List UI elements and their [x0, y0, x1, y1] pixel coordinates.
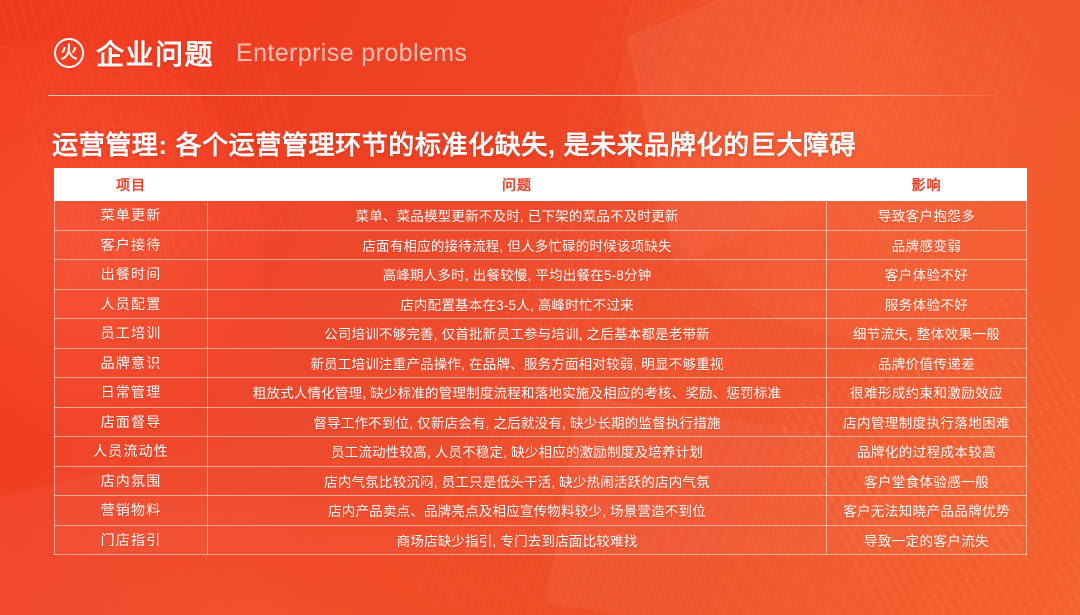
table-row: 营销物料店内产品卖点、品牌亮点及相应宣传物料较少, 场景营造不到位客户无法知晓产…: [55, 496, 1027, 526]
table-cell-item: 品牌意识: [55, 348, 208, 378]
table-cell-item: 人员配置: [55, 289, 208, 319]
table-cell-item: 店内氛围: [55, 466, 208, 496]
table-row: 菜单更新菜单、菜品模型更新不及时, 已下架的菜品不及时更新导致客户抱怨多: [55, 201, 1027, 231]
table-cell-problem: 店面有相应的接待流程, 但人多忙碌的时候该项缺失: [208, 230, 827, 260]
table-cell-problem: 督导工作不到位, 仅新店会有, 之后就没有, 缺少长期的监督执行措施: [208, 407, 827, 437]
table-cell-item: 员工培训: [55, 319, 208, 349]
problems-table: 项目 问题 影响 菜单更新菜单、菜品模型更新不及时, 已下架的菜品不及时更新导致…: [54, 168, 1027, 555]
table-cell-problem: 店内气氛比较沉闷, 员工只是低头干活, 缺少热闹活跃的店内气氛: [208, 466, 827, 496]
page-title: 运营管理: 各个运营管理环节的标准化缺失, 是未来品牌化的巨大障碍: [52, 125, 856, 162]
table-cell-problem: 商场店缺少指引, 专门去到店面比较难找: [208, 525, 827, 555]
table-cell-item: 店面督导: [55, 407, 208, 437]
column-header-impact: 影响: [827, 169, 1027, 201]
fire-circle-icon: 火: [54, 38, 84, 68]
table-row: 门店指引商场店缺少指引, 专门去到店面比较难找导致一定的客户流失: [55, 525, 1027, 555]
table-cell-item: 日常管理: [55, 378, 208, 408]
table-cell-impact: 服务体验不好: [827, 289, 1027, 319]
column-header-problem: 问题: [208, 169, 827, 201]
table-row: 店面督导督导工作不到位, 仅新店会有, 之后就没有, 缺少长期的监督执行措施店内…: [55, 407, 1027, 437]
table-cell-impact: 细节流失, 整体效果一般: [827, 319, 1027, 349]
table-row: 客户接待店面有相应的接待流程, 但人多忙碌的时候该项缺失品牌感变弱: [55, 230, 1027, 260]
table-row: 品牌意识新员工培训注重产品操作, 在品牌、服务方面相对较弱, 明显不够重视品牌价…: [55, 348, 1027, 378]
column-header-item: 项目: [55, 169, 208, 201]
table-cell-problem: 公司培训不够完善, 仅首批新员工参与培训, 之后基本都是老带新: [208, 319, 827, 349]
table-cell-problem: 新员工培训注重产品操作, 在品牌、服务方面相对较弱, 明显不够重视: [208, 348, 827, 378]
table-row: 员工培训公司培训不够完善, 仅首批新员工参与培训, 之后基本都是老带新细节流失,…: [55, 319, 1027, 349]
table-row: 日常管理粗放式人情化管理, 缺少标准的管理制度流程和落地实施及相应的考核、奖励、…: [55, 378, 1027, 408]
table-cell-problem: 店内配置基本在3-5人, 高峰时忙不过来: [208, 289, 827, 319]
table-cell-problem: 粗放式人情化管理, 缺少标准的管理制度流程和落地实施及相应的考核、奖励、惩罚标准: [208, 378, 827, 408]
brand-title-en: Enterprise problems: [236, 39, 467, 68]
table-row: 人员流动性员工流动性较高, 人员不稳定, 缺少相应的激励制度及培养计划品牌化的过…: [55, 437, 1027, 467]
table-cell-impact: 客户无法知晓产品品牌优势: [827, 496, 1027, 526]
table-cell-problem: 高峰期人多时, 出餐较慢, 平均出餐在5-8分钟: [208, 260, 827, 290]
table-cell-impact: 导致客户抱怨多: [827, 201, 1027, 231]
table-cell-item: 营销物料: [55, 496, 208, 526]
page-header: 火 企业问题 Enterprise problems: [0, 0, 1080, 100]
table-cell-item: 菜单更新: [55, 201, 208, 231]
table-header-row: 项目 问题 影响: [55, 169, 1027, 201]
table-cell-problem: 店内产品卖点、品牌亮点及相应宣传物料较少, 场景营造不到位: [208, 496, 827, 526]
table-cell-item: 客户接待: [55, 230, 208, 260]
brand-title-cn: 企业问题: [96, 33, 214, 73]
table-row: 出餐时间高峰期人多时, 出餐较慢, 平均出餐在5-8分钟客户体验不好: [55, 260, 1027, 290]
table-row: 店内氛围店内气氛比较沉闷, 员工只是低头干活, 缺少热闹活跃的店内气氛客户堂食体…: [55, 466, 1027, 496]
table-cell-impact: 品牌感变弱: [827, 230, 1027, 260]
table-cell-impact: 导致一定的客户流失: [827, 525, 1027, 555]
table-body: 菜单更新菜单、菜品模型更新不及时, 已下架的菜品不及时更新导致客户抱怨多客户接待…: [55, 201, 1027, 555]
table-cell-impact: 客户堂食体验感一般: [827, 466, 1027, 496]
header-divider: [48, 95, 996, 96]
table-cell-impact: 客户体验不好: [827, 260, 1027, 290]
table-row: 人员配置店内配置基本在3-5人, 高峰时忙不过来服务体验不好: [55, 289, 1027, 319]
table-cell-impact: 品牌化的过程成本较高: [827, 437, 1027, 467]
table-cell-problem: 菜单、菜品模型更新不及时, 已下架的菜品不及时更新: [208, 201, 827, 231]
table-cell-item: 人员流动性: [55, 437, 208, 467]
table-cell-impact: 品牌价值传递差: [827, 348, 1027, 378]
table-cell-item: 门店指引: [55, 525, 208, 555]
table-cell-item: 出餐时间: [55, 260, 208, 290]
problems-table-container: 项目 问题 影响 菜单更新菜单、菜品模型更新不及时, 已下架的菜品不及时更新导致…: [54, 168, 1026, 555]
table-cell-impact: 很难形成约束和激励效应: [827, 378, 1027, 408]
table-cell-problem: 员工流动性较高, 人员不稳定, 缺少相应的激励制度及培养计划: [208, 437, 827, 467]
brand: 火 企业问题 Enterprise problems: [54, 33, 467, 73]
table-cell-impact: 店内管理制度执行落地困难: [827, 407, 1027, 437]
